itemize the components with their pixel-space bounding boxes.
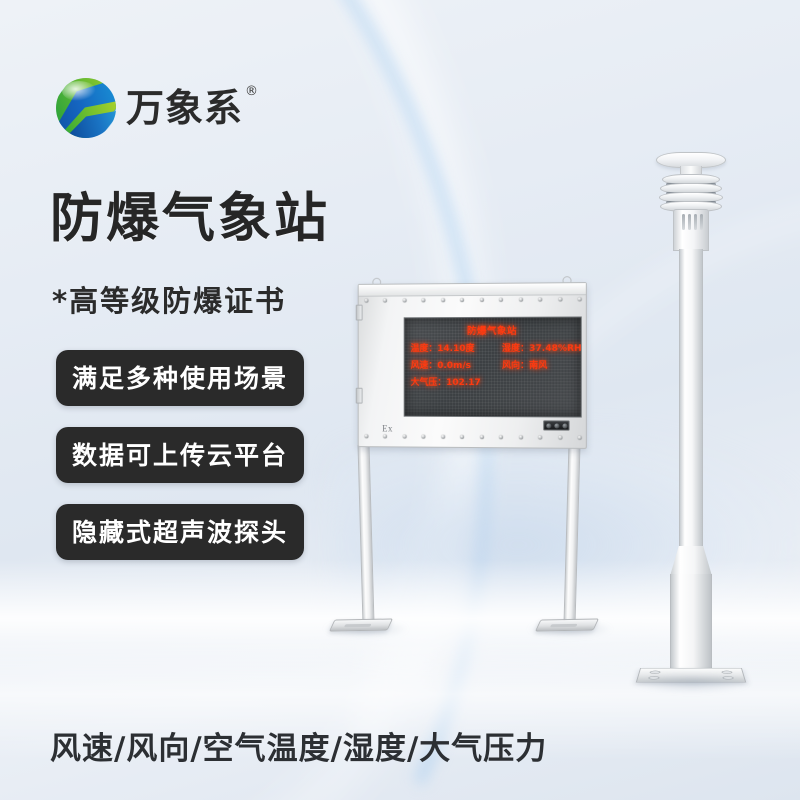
display-stand-leg-left <box>358 445 375 623</box>
page-subtitle: *高等级防爆证书 <box>52 278 286 320</box>
brand-name: 万象系® <box>126 89 243 127</box>
page-title: 防爆气象站 <box>50 190 330 247</box>
feature-badge-1: 满足多种使用场景 <box>56 350 304 406</box>
feature-badge-3: 隐藏式超声波探头 <box>56 504 304 560</box>
brand-logo: 万象系® <box>56 78 243 138</box>
display-stand-leg-right <box>564 445 581 623</box>
display-stand-foot-right <box>535 618 599 631</box>
led-readings-grid: 温度：14.10度 湿度：37.48%RH 风速：0.0m/s 风向：南风 大气… <box>411 341 575 388</box>
registered-trademark-icon: ® <box>245 85 259 98</box>
led-reading-wind-speed: 风速：0.0m/s <box>411 358 502 371</box>
led-screen-title: 防爆气象站 <box>411 323 575 338</box>
feature-badge-2: 数据可上传云平台 <box>56 427 304 483</box>
ultrasonic-sensor-barrel <box>673 209 709 251</box>
product-marketing-banner: 万象系® 防爆气象站 *高等级防爆证书 满足多种使用场景 数据可上传云平台 隐藏… <box>0 0 800 800</box>
led-screen: 防爆气象站 温度：14.10度 湿度：37.48%RH 风速：0.0m/s 风向… <box>404 316 582 417</box>
mast-taper <box>670 546 712 576</box>
cable-gland-plate <box>543 420 569 430</box>
enclosure-hinge-lower <box>356 388 363 404</box>
enclosure-bolt-row-bottom <box>365 433 582 441</box>
mast-shadow <box>634 674 750 692</box>
display-unit: 防爆气象站 温度：14.10度 湿度：37.48%RH 风速：0.0m/s 风向… <box>330 283 602 668</box>
led-reading-pressure: 大气压：102.17 <box>411 375 577 388</box>
led-reading-temperature: 温度：14.10度 <box>411 341 502 354</box>
led-reading-wind-direction: 风向：南风 <box>502 358 577 371</box>
globe-swirl-logo-icon <box>56 78 116 138</box>
enclosure-bolt-row-top <box>365 296 582 303</box>
enclosure-hinge-upper <box>356 305 363 321</box>
bottom-spec-line: 风速/风向/空气温度/湿度/大气压力 <box>50 723 547 768</box>
display-stand-foot-left <box>329 618 393 631</box>
ex-certification-marking: Ex <box>382 423 393 433</box>
sensor-neck <box>680 166 702 174</box>
enclosure-body: 防爆气象站 温度：14.10度 湿度：37.48%RH 风速：0.0m/s 风向… <box>358 282 587 449</box>
sensor-mast <box>626 150 756 670</box>
led-reading-humidity: 湿度：37.48%RH <box>502 341 577 354</box>
mast-lower-column <box>670 574 712 672</box>
mast-upper-column <box>679 249 703 549</box>
enclosure-top-edge <box>359 283 586 297</box>
